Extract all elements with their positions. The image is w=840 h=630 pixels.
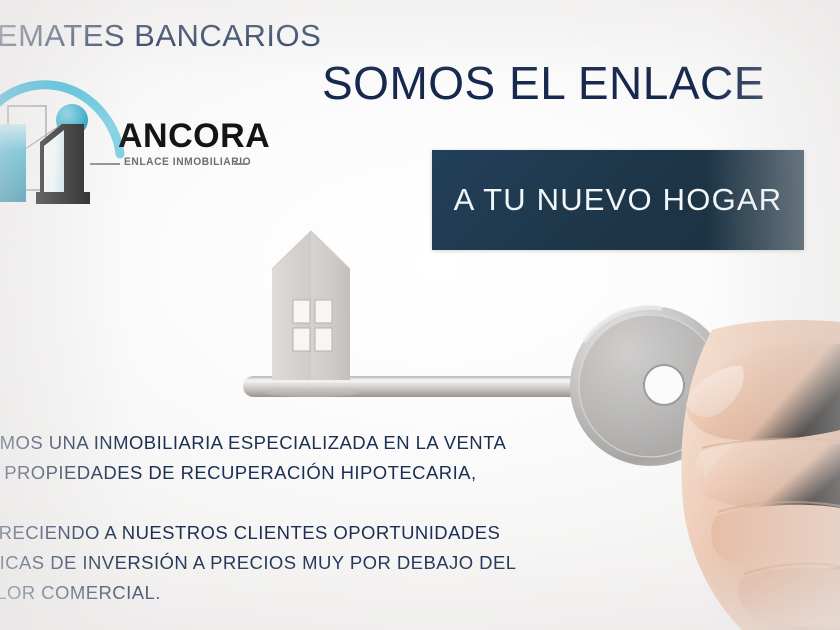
body-copy-line-3: OFRECIENDO A NUESTROS CLIENTES OPORTUNID… [0, 518, 517, 548]
body-copy-line-1: SOMOS UNA INMOBILIARIA ESPECIALIZADA EN … [0, 428, 517, 458]
tagline-slab: A TU NUEVO HOGAR [432, 150, 804, 250]
kicker-text: REMATES BANCARIOS [0, 18, 321, 54]
logo-wordmark: ANCORA [118, 117, 270, 156]
ancora-logo[interactable]: ANCORA ENLACE INMOBILIARIO [0, 62, 266, 212]
page-title: SOMOS EL ENLACE [322, 56, 765, 110]
tagline-rule-right [234, 163, 248, 165]
body-copy-line-2: DE PROPIEDADES DE RECUPERACIÓN HIPOTECAR… [0, 458, 517, 488]
body-copy: SOMOS UNA INMOBILIARIA ESPECIALIZADA EN … [0, 428, 517, 608]
body-copy-spacer [0, 488, 517, 518]
tagline-rule-left [90, 163, 120, 165]
logo-tagline: ENLACE INMOBILIARIO [124, 156, 251, 168]
tagline-slab-text: A TU NUEVO HOGAR [432, 182, 804, 218]
body-copy-line-5: VALOR COMERCIAL. [0, 578, 517, 608]
body-copy-line-4: ÚNICAS DE INVERSIÓN A PRECIOS MUY POR DE… [0, 548, 517, 578]
promotional-banner: REMATES BANCARIOS SOMOS EL ENLACE A TU N… [0, 0, 840, 630]
